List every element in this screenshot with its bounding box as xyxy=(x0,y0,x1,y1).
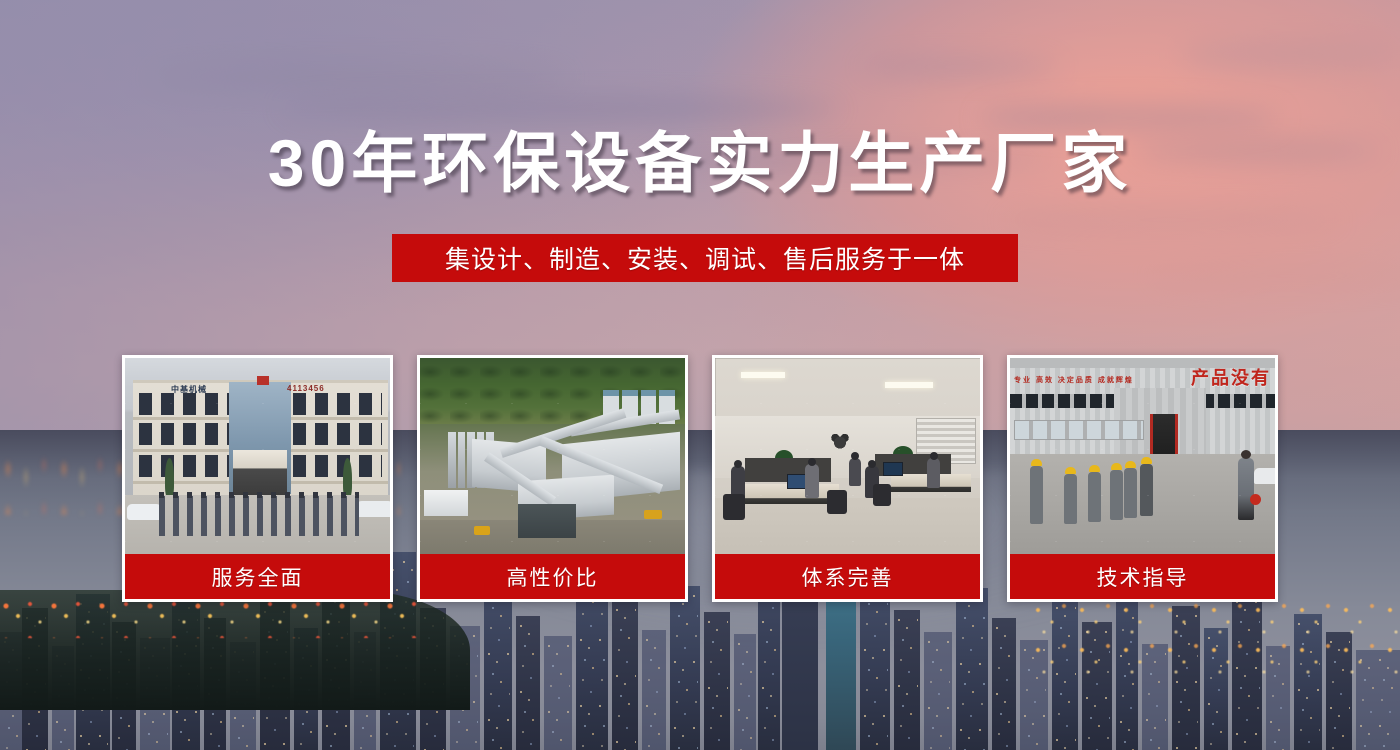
factory-door xyxy=(1150,414,1178,458)
company-headquarters-building-with-staff-photo: 中基机械 4113456 xyxy=(125,358,390,554)
feature-card-caption: 服务全面 xyxy=(125,554,390,599)
building-phone-number: 4113456 xyxy=(287,384,325,393)
wall-decal xyxy=(823,424,857,454)
red-helmet xyxy=(1250,494,1261,505)
cloud-shape xyxy=(1180,40,1400,70)
supervisor-figure xyxy=(1238,458,1254,520)
workers-briefing-outside-factory-photo: 产品没有 专业 高效 决定品质 成就辉煌 xyxy=(1010,358,1275,554)
building-signage: 中基机械 xyxy=(171,384,207,395)
distant-city-lights xyxy=(1030,600,1400,680)
feature-card-caption: 技术指导 xyxy=(1010,554,1275,599)
cloud-shape xyxy=(1000,210,1340,230)
feature-card-caption: 体系完善 xyxy=(715,554,980,599)
office-interior-with-employees-photo xyxy=(715,358,980,554)
cloud-shape xyxy=(280,96,840,122)
feature-card-caption: 高性价比 xyxy=(420,554,685,599)
flag-icon xyxy=(257,376,269,385)
cloud-shape xyxy=(150,62,570,92)
cloud-shape xyxy=(860,58,1060,76)
feature-card[interactable]: 高性价比 xyxy=(417,355,688,602)
promo-banner: 30年环保设备实力生产厂家 集设计、制造、安装、调试、售后服务于一体 中基机械 … xyxy=(0,0,1400,750)
factory-slogan: 专业 高效 决定品质 成就辉煌 xyxy=(1014,376,1134,387)
subtitle-text: 集设计、制造、安装、调试、售后服务于一体 xyxy=(445,240,965,276)
feature-card-row: 中基机械 4113456 服务全面 xyxy=(122,355,1278,602)
feature-card[interactable]: 中基机械 4113456 服务全面 xyxy=(122,355,393,602)
aerial-view-industrial-plant-photo xyxy=(420,358,685,554)
staff-lineup xyxy=(159,496,359,536)
factory-signage: 产品没有 xyxy=(1191,364,1271,390)
riverbank-lights xyxy=(0,598,420,638)
feature-card[interactable]: 体系完善 xyxy=(712,355,983,602)
subtitle-banner: 集设计、制造、安装、调试、售后服务于一体 xyxy=(392,234,1018,282)
page-title: 30年环保设备实力生产厂家 xyxy=(0,130,1400,196)
feature-card[interactable]: 产品没有 专业 高效 决定品质 成就辉煌 技术指导 xyxy=(1007,355,1278,602)
